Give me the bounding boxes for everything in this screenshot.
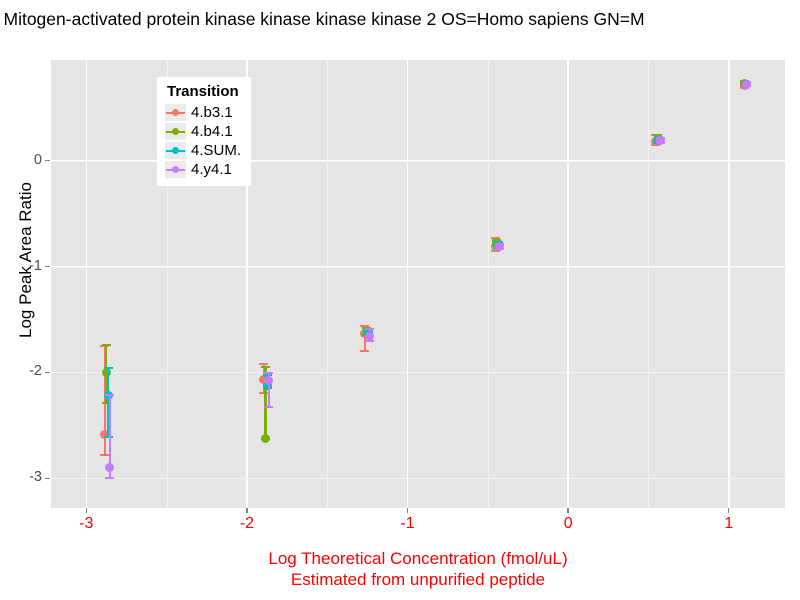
x-axis-title-line1: Log Theoretical Concentration (fmol/uL) (51, 548, 785, 569)
x-axis-title-line2: Estimated from unpurified peptide (51, 569, 785, 590)
x-tick-label: -2 (217, 515, 277, 533)
y-tick-mark (45, 478, 50, 479)
gridline-x-minor (648, 60, 649, 508)
gridline-x-major (728, 60, 730, 508)
gridline-y-minor (51, 267, 785, 268)
error-bar-cap (261, 366, 270, 368)
data-point[interactable] (742, 80, 751, 89)
y-tick-mark (45, 372, 50, 373)
x-tick-mark (86, 508, 87, 513)
legend-swatch-icon (165, 123, 186, 140)
chart-page: N Mitogen-activated protein kinase kinas… (0, 0, 800, 600)
gridline-x-minor (488, 60, 489, 508)
legend-swatch-icon (165, 161, 186, 178)
error-bar-cap (259, 363, 268, 365)
error-bar-cap (365, 328, 374, 330)
legend-swatch-icon (165, 142, 186, 159)
legend-item-label: 4.SUM. (191, 142, 241, 159)
gridline-x-major (86, 60, 88, 508)
x-tick-mark (246, 508, 247, 513)
error-bar-cap (102, 344, 111, 346)
x-tick-label: -3 (56, 515, 116, 533)
legend-item-4-b4-1[interactable]: 4.b4.1 (165, 122, 241, 141)
legend-item-label: 4.b3.1 (191, 104, 233, 121)
legend: Transition 4.b3.14.b4.14.SUM.4.y4.1 (157, 77, 251, 186)
x-tick-label: 0 (538, 515, 598, 533)
legend-item-label: 4.b4.1 (191, 123, 233, 140)
legend-items: 4.b3.14.b4.14.SUM.4.y4.1 (165, 103, 241, 179)
error-bar-cap (264, 406, 273, 408)
x-tick-label: 1 (699, 515, 759, 533)
error-bar-cap (104, 367, 113, 369)
gridline-x-minor (327, 60, 328, 508)
x-tick-mark (728, 508, 729, 513)
legend-swatch-icon (165, 104, 186, 121)
x-tick-label: -1 (378, 515, 438, 533)
x-axis-title: Log Theoretical Concentration (fmol/uL) … (51, 548, 785, 590)
y-tick-mark (45, 160, 50, 161)
gridline-y-minor (51, 372, 785, 373)
gridline-x-major (407, 60, 409, 508)
legend-item-4-sum-[interactable]: 4.SUM. (165, 141, 241, 160)
data-point[interactable] (264, 376, 273, 385)
error-bar-cap (264, 372, 273, 374)
data-point[interactable] (261, 434, 270, 443)
page-title: N Mitogen-activated protein kinase kinas… (0, 6, 800, 32)
x-tick-mark (567, 508, 568, 513)
legend-item-4-y4-1[interactable]: 4.y4.1 (165, 160, 241, 179)
legend-item-label: 4.y4.1 (191, 161, 232, 178)
error-bar-cap (360, 350, 369, 352)
gridline-y-minor (51, 478, 785, 479)
error-bar-cap (105, 477, 114, 479)
data-point[interactable] (105, 463, 114, 472)
x-tick-mark (407, 508, 408, 513)
legend-item-4-b3-1[interactable]: 4.b3.1 (165, 103, 241, 122)
legend-title: Transition (167, 83, 241, 100)
y-tick-mark (45, 266, 50, 267)
data-point[interactable] (656, 136, 665, 145)
data-point[interactable] (495, 242, 504, 251)
error-bar-cap (105, 394, 114, 396)
gridline-x-major (567, 60, 569, 508)
y-axis-title: Log Peak Area Ratio (16, 130, 36, 390)
y-tick-label: -3 (0, 469, 42, 485)
